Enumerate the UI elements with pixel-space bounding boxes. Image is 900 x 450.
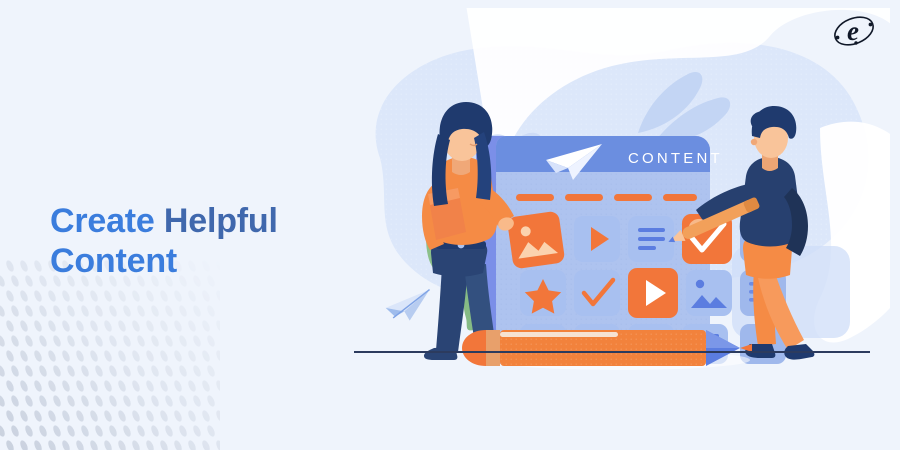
- giant-pencil-prop: [462, 330, 752, 370]
- content-banner: Create Helpful Content e: [0, 0, 900, 450]
- dash-3: [614, 194, 652, 201]
- corner-dot-pattern: [0, 260, 220, 450]
- tile-row: [520, 268, 786, 318]
- headline-line-2: Content: [50, 241, 350, 281]
- tile-play-orange[interactable]: [628, 268, 678, 318]
- paper-plane-prop: [384, 290, 433, 324]
- tile-lines-blue[interactable]: [628, 216, 674, 262]
- tile-image-blue[interactable]: [686, 270, 732, 316]
- tile-check-blue[interactable]: [574, 270, 620, 316]
- dash-2: [565, 194, 603, 201]
- tile-play-blue[interactable]: [574, 216, 620, 262]
- headline-line-1: Create Helpful: [50, 202, 278, 240]
- board-header-label: CONTENT: [628, 150, 723, 167]
- dash-1: [516, 194, 554, 201]
- dash-4: [663, 194, 697, 201]
- tile-star-blue[interactable]: [520, 270, 566, 316]
- tile-image-orange[interactable]: [507, 211, 566, 270]
- page-title: Create Helpful Content: [50, 201, 350, 281]
- content-calendar-board-illustration: CONTENT: [350, 8, 890, 388]
